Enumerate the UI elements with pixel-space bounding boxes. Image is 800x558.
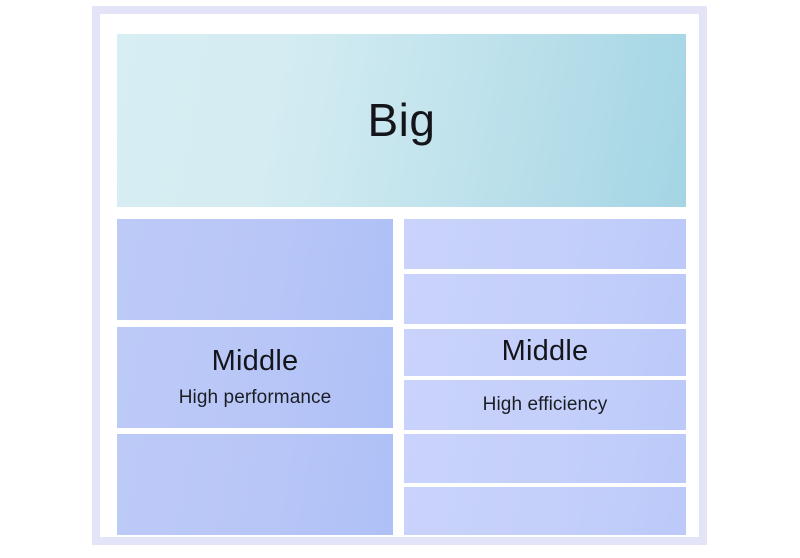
- performance-core-block-1: [117, 219, 393, 320]
- efficiency-core-block-1: [404, 219, 686, 269]
- high-efficiency-column: Middle High efficiency: [404, 219, 686, 527]
- efficiency-core-block-6: [404, 487, 686, 535]
- middle-core-columns: Middle High performance Middle High effi…: [117, 219, 686, 527]
- efficiency-tier-label: Middle: [502, 337, 589, 368]
- block-canvas: Big Middle High performance: [117, 26, 686, 527]
- efficiency-core-block-3: Middle: [404, 329, 686, 376]
- efficiency-core-block-5: [404, 434, 686, 483]
- high-performance-column: Middle High performance: [117, 219, 393, 527]
- performance-core-block-3: [117, 434, 393, 535]
- efficiency-descriptor-label: High efficiency: [483, 395, 608, 415]
- performance-core-block-2: Middle High performance: [117, 327, 393, 428]
- diagram-inner-mat: Big Middle High performance: [100, 14, 699, 537]
- efficiency-core-block-4: High efficiency: [404, 380, 686, 430]
- core-architecture-diagram: Big Middle High performance: [92, 6, 707, 545]
- big-core-label: Big: [368, 97, 436, 145]
- big-core-block: Big: [117, 34, 686, 207]
- performance-tier-label: Middle: [212, 347, 299, 378]
- performance-descriptor-label: High performance: [179, 388, 332, 408]
- efficiency-core-block-2: [404, 274, 686, 324]
